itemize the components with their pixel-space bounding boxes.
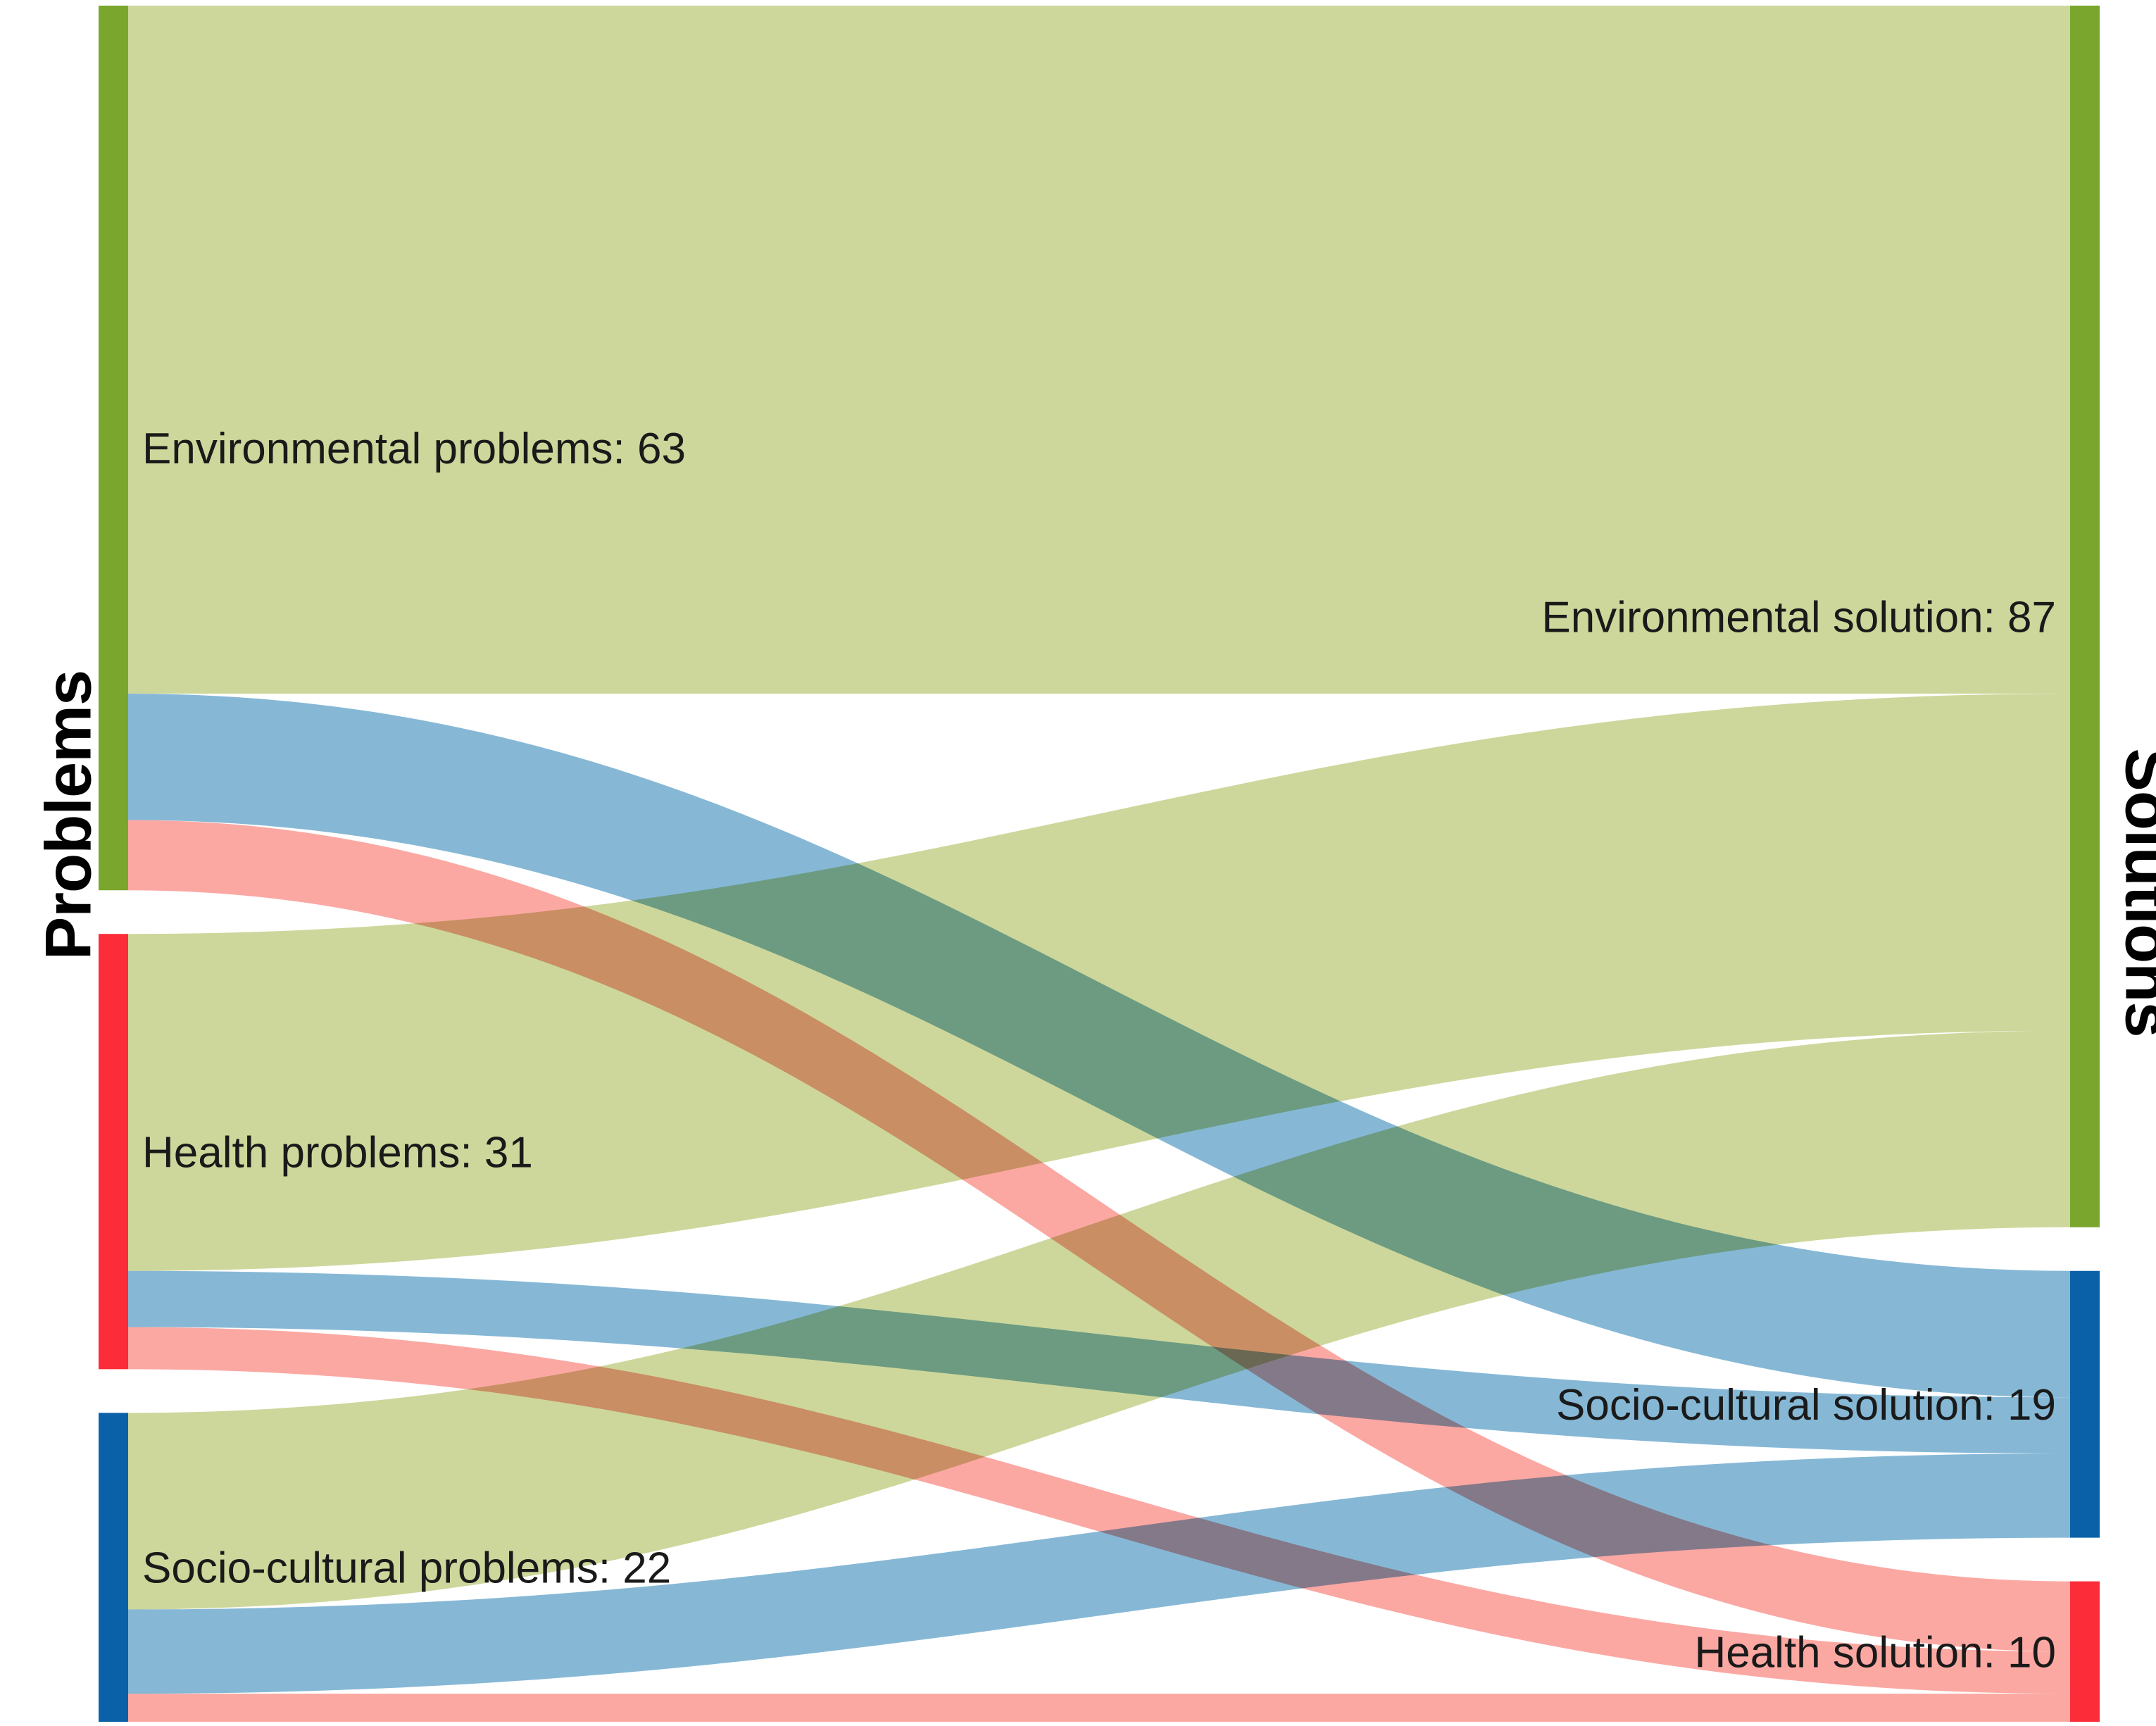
sankey-link (128, 1694, 2070, 1722)
sankey-node-label-env_p: Environmental problems: 63 (142, 425, 686, 473)
sankey-canvas: Environmental problems: 63Health problem… (0, 0, 2156, 1726)
sankey-link (128, 6, 2070, 694)
sankey-node-health_s[interactable] (2070, 1582, 2100, 1722)
sankey-node-label-health_p: Health problems: 31 (142, 1128, 533, 1177)
sankey-node-label-socio_s: Socio-cultural solution: 19 (1556, 1381, 2056, 1430)
sankey-node-socio_p[interactable] (99, 1413, 128, 1722)
sankey-node-label-socio_p: Socio-cultural problems: 22 (142, 1544, 671, 1593)
sankey-diagram: Environmental problems: 63Health problem… (0, 0, 2156, 1726)
sankey-node-health_p[interactable] (99, 934, 128, 1369)
sankey-node-label-env_s: Environmental solution: 87 (1541, 593, 2056, 642)
links-layer (128, 6, 2070, 1722)
axis-label-problems: Problems (32, 668, 106, 963)
axis-label-solutions: Solutions (2111, 710, 2156, 1076)
sankey-node-label-health_s: Health solution: 10 (1694, 1628, 2056, 1677)
sankey-node-socio_s[interactable] (2070, 1271, 2100, 1538)
sankey-node-env_s[interactable] (2070, 6, 2100, 1227)
